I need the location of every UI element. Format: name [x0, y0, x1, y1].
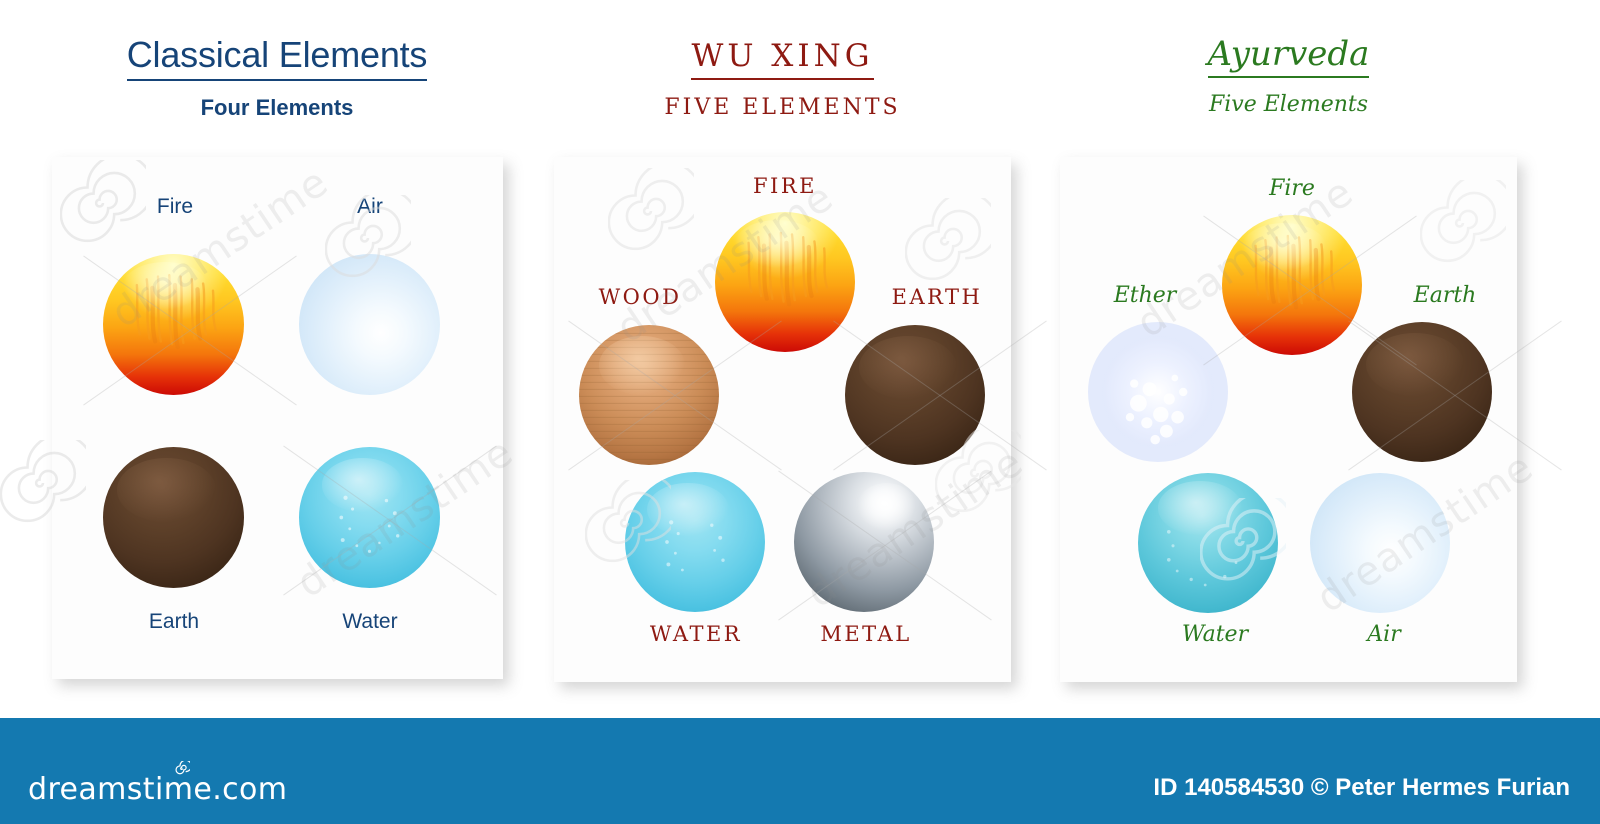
earth-sphere-wuxing	[845, 325, 985, 465]
subtitle-wu-xing: FIVE ELEMENTS	[554, 95, 1011, 120]
column-title-ayurveda: Ayurveda Five Elements	[1060, 34, 1517, 117]
label-ayurveda-fire: Fire	[1245, 176, 1339, 201]
earth-highlight	[1366, 333, 1464, 396]
earth-highlight	[859, 336, 957, 399]
label-classical-fire: Fire	[130, 195, 220, 219]
label-wuxing-water: WATER	[641, 622, 751, 646]
label-ayurveda-air: Air	[1355, 622, 1413, 647]
flame-texture-icon	[103, 254, 244, 395]
water-sphere-ayurveda	[1138, 473, 1278, 613]
spiral-icon	[175, 761, 190, 776]
subtitle-classical-elements: Four Elements	[52, 95, 502, 121]
metal-sphere-wuxing	[794, 472, 934, 612]
ether-sparkles-icon	[1088, 322, 1228, 462]
dreamstime-logo-text: dreamstime.com	[28, 772, 287, 807]
label-wuxing-fire: FIRE	[735, 174, 835, 198]
label-classical-air: Air	[325, 195, 415, 219]
flame-texture-icon	[715, 212, 855, 352]
label-wuxing-wood: WOOD	[586, 285, 694, 309]
wood-grain-icon	[579, 325, 719, 465]
dreamstime-logo[interactable]: dreamstime.com	[28, 772, 287, 807]
title-classical-elements: Classical Elements	[127, 34, 428, 81]
column-title-classical: Classical Elements Four Elements	[52, 34, 502, 121]
metal-highlight	[857, 483, 916, 531]
label-wuxing-metal: METAL	[812, 622, 920, 646]
label-ayurveda-ether: Ether	[1100, 283, 1190, 308]
panel-classical-elements	[52, 157, 503, 679]
ether-sphere-ayurveda	[1088, 322, 1228, 462]
label-ayurveda-earth: Earth	[1398, 283, 1492, 308]
title-ayurveda: Ayurveda	[1208, 34, 1370, 78]
poster-canvas: Classical Elements Four Elements Fire	[0, 0, 1600, 824]
label-ayurveda-water: Water	[1166, 622, 1264, 647]
footer-bar: dreamstime.com ID 140584530 © Peter Herm…	[0, 718, 1600, 824]
label-wuxing-earth: EARTH	[882, 285, 992, 309]
label-classical-water: Water	[322, 610, 418, 634]
water-bubbles-icon	[299, 447, 440, 588]
flame-texture-icon	[1222, 215, 1362, 355]
air-sphere-classical	[299, 254, 440, 395]
water-bubbles-icon	[1138, 473, 1278, 613]
fire-sphere-classical	[103, 254, 244, 395]
earth-sphere-classical	[103, 447, 244, 588]
water-sphere-classical	[299, 447, 440, 588]
fire-sphere-ayurveda	[1222, 215, 1362, 355]
wood-sphere-wuxing	[579, 325, 719, 465]
image-credit: ID 140584530 © Peter Hermes Furian	[1153, 774, 1570, 802]
subtitle-ayurveda: Five Elements	[1060, 92, 1517, 117]
column-title-wuxing: WU XING FIVE ELEMENTS	[554, 38, 1011, 120]
earth-sphere-ayurveda	[1352, 322, 1492, 462]
water-bubbles-icon	[625, 472, 765, 612]
label-classical-earth: Earth	[128, 610, 220, 634]
title-wu-xing: WU XING	[691, 38, 873, 80]
earth-highlight	[117, 458, 216, 521]
fire-sphere-wuxing	[715, 212, 855, 352]
air-sphere-ayurveda	[1310, 473, 1450, 613]
water-sphere-wuxing	[625, 472, 765, 612]
